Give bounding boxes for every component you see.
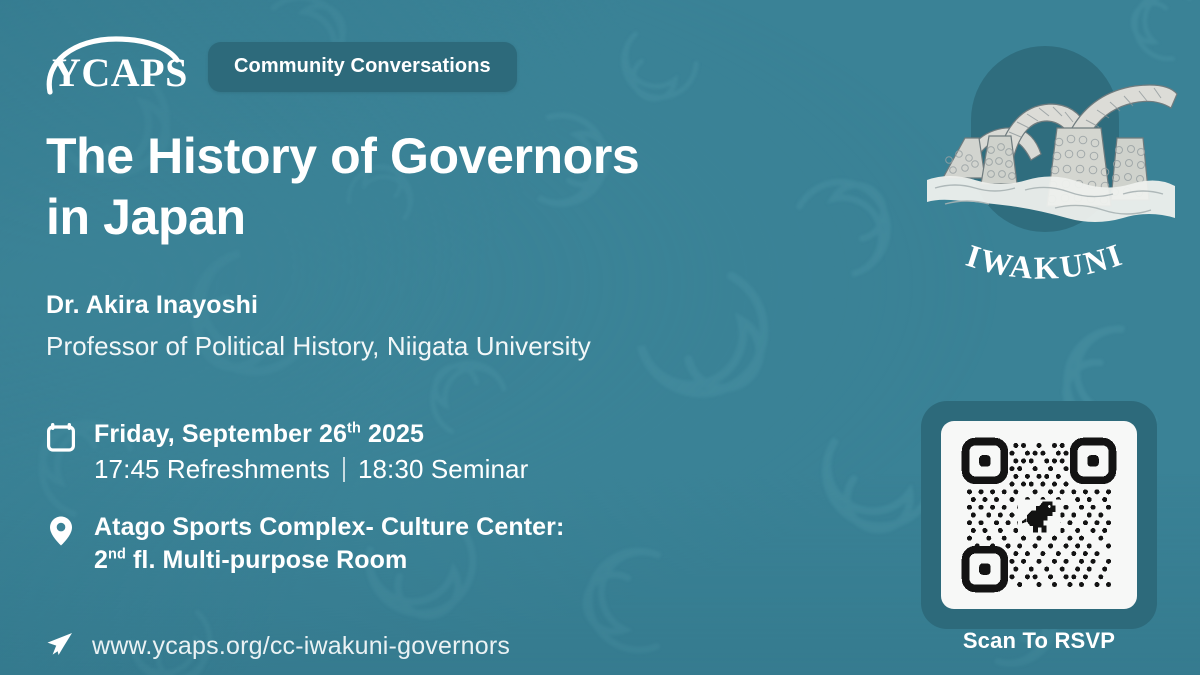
event-date-ordinal: th [347,421,361,437]
venue-floor-ordinal: nd [108,546,126,562]
iwakuni-badge: IWAKUNI [905,28,1185,303]
venue-floor-number: 2 [94,546,108,574]
iwakuni-label: IWAKUNI [962,236,1128,286]
dinosaur-icon [1018,500,1061,535]
event-url: www.ycaps.org/cc-iwakuni-governors [92,632,510,661]
page-title: The History of Governors in Japan [46,126,746,248]
ycaps-logo-text: YCAPS [52,53,188,93]
venue-row: Atago Sports Complex- Culture Center: 2n… [46,511,564,576]
calendar-icon [46,418,76,452]
qr-panel [921,401,1157,629]
venue-room: fl. Multi-purpose Room [126,546,407,574]
event-date-prefix: Friday, September 26 [94,420,347,448]
qr-code-icon[interactable] [941,421,1137,609]
community-conversations-pill: Community Conversations [208,42,517,92]
qr-caption: Scan To RSVP [921,628,1157,654]
venue-line-1: Atago Sports Complex- Culture Center: [94,511,564,544]
speaker-name: Dr. Akira Inayoshi [46,291,258,320]
event-times: 17:45 Refreshments18:30 Seminar [94,453,528,487]
time-divider [343,457,345,482]
title-line-1: The History of Governors [46,126,746,187]
title-line-2: in Japan [46,187,746,248]
speaker-role: Professor of Political History, Niigata … [46,331,591,362]
event-poster: YCAPS Community Conversations The Histor… [0,0,1200,675]
venue-line-2: 2nd fl. Multi-purpose Room [94,544,564,577]
location-pin-icon [46,511,76,547]
time-seminar: 18:30 Seminar [358,454,528,484]
time-refreshments: 17:45 Refreshments [94,454,330,484]
send-paper-plane-icon [44,630,74,663]
ycaps-logo: YCAPS [44,36,184,98]
event-date: Friday, September 26th 2025 [94,418,528,451]
date-time-row: Friday, September 26th 2025 17:45 Refres… [46,418,528,486]
header: YCAPS Community Conversations [44,36,517,98]
event-date-year: 2025 [361,420,424,448]
footer: www.ycaps.org/cc-iwakuni-governors [44,630,510,663]
